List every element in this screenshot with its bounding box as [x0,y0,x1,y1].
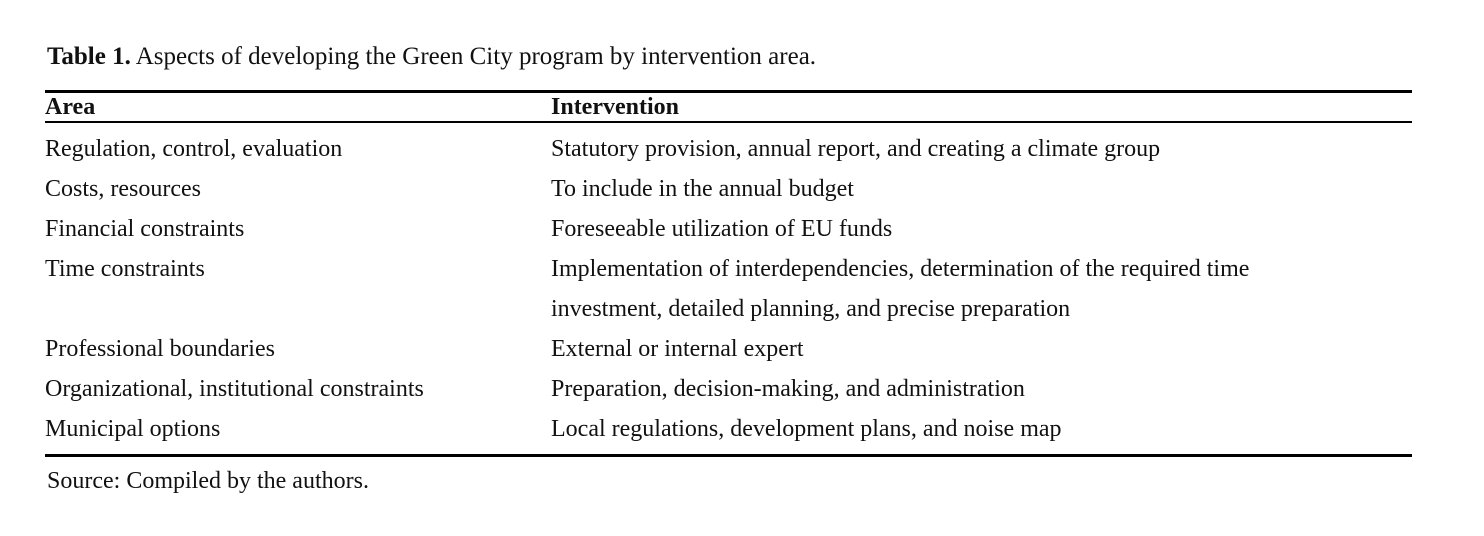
cell-intervention-line: Local regulations, development plans, an… [551,409,1412,449]
cell-intervention-line: Implementation of interdependencies, det… [551,249,1412,289]
cell-intervention: External or internal expert [551,329,1412,369]
aspects-table-body: Regulation, control, evaluation Statutor… [45,123,1412,454]
cell-area: Regulation, control, evaluation [45,123,551,169]
cell-intervention: Foreseeable utilization of EU funds [551,209,1412,249]
cell-area: Financial constraints [45,209,551,249]
cell-intervention-line: Statutory provision, annual report, and … [551,129,1412,169]
table-rule-bottom [45,454,1412,457]
cell-intervention: Implementation of interdependencies, det… [551,249,1412,329]
column-header-intervention: Intervention [551,93,1412,121]
aspects-table: Area Intervention [45,93,1412,121]
cell-area: Professional boundaries [45,329,551,369]
cell-area: Costs, resources [45,169,551,209]
table-caption-label: Table 1. [47,43,131,70]
table-row: Professional boundaries External or inte… [45,329,1412,369]
table-row: Time constraints Implementation of inter… [45,249,1412,329]
column-header-area: Area [45,93,551,121]
cell-area: Municipal options [45,409,551,454]
table-caption-text: Aspects of developing the Green City pro… [136,43,816,70]
cell-intervention: Preparation, decision-making, and admini… [551,369,1412,409]
table-row: Financial constraints Foreseeable utiliz… [45,209,1412,249]
cell-intervention-line: External or internal expert [551,329,1412,369]
table-row: Regulation, control, evaluation Statutor… [45,123,1412,169]
table-container: Area Intervention Regulation, control, e… [45,90,1412,457]
cell-area: Organizational, institutional constraint… [45,369,551,409]
cell-intervention: Local regulations, development plans, an… [551,409,1412,454]
cell-area: Time constraints [45,249,551,329]
table-caption: Table 1. Aspects of developing the Green… [47,41,816,73]
cell-intervention-line: To include in the annual budget [551,169,1412,209]
table-header-row: Area Intervention [45,93,1412,121]
table-row: Organizational, institutional constraint… [45,369,1412,409]
table-row: Municipal options Local regulations, dev… [45,409,1412,454]
table-source-note: Source: Compiled by the authors. [47,466,369,496]
table-figure: Table 1. Aspects of developing the Green… [0,0,1484,536]
cell-intervention: To include in the annual budget [551,169,1412,209]
cell-intervention: Statutory provision, annual report, and … [551,123,1412,169]
cell-intervention-line: Preparation, decision-making, and admini… [551,369,1412,409]
table-row: Costs, resources To include in the annua… [45,169,1412,209]
cell-intervention-line: investment, detailed planning, and preci… [551,289,1412,329]
cell-intervention-line: Foreseeable utilization of EU funds [551,209,1412,249]
